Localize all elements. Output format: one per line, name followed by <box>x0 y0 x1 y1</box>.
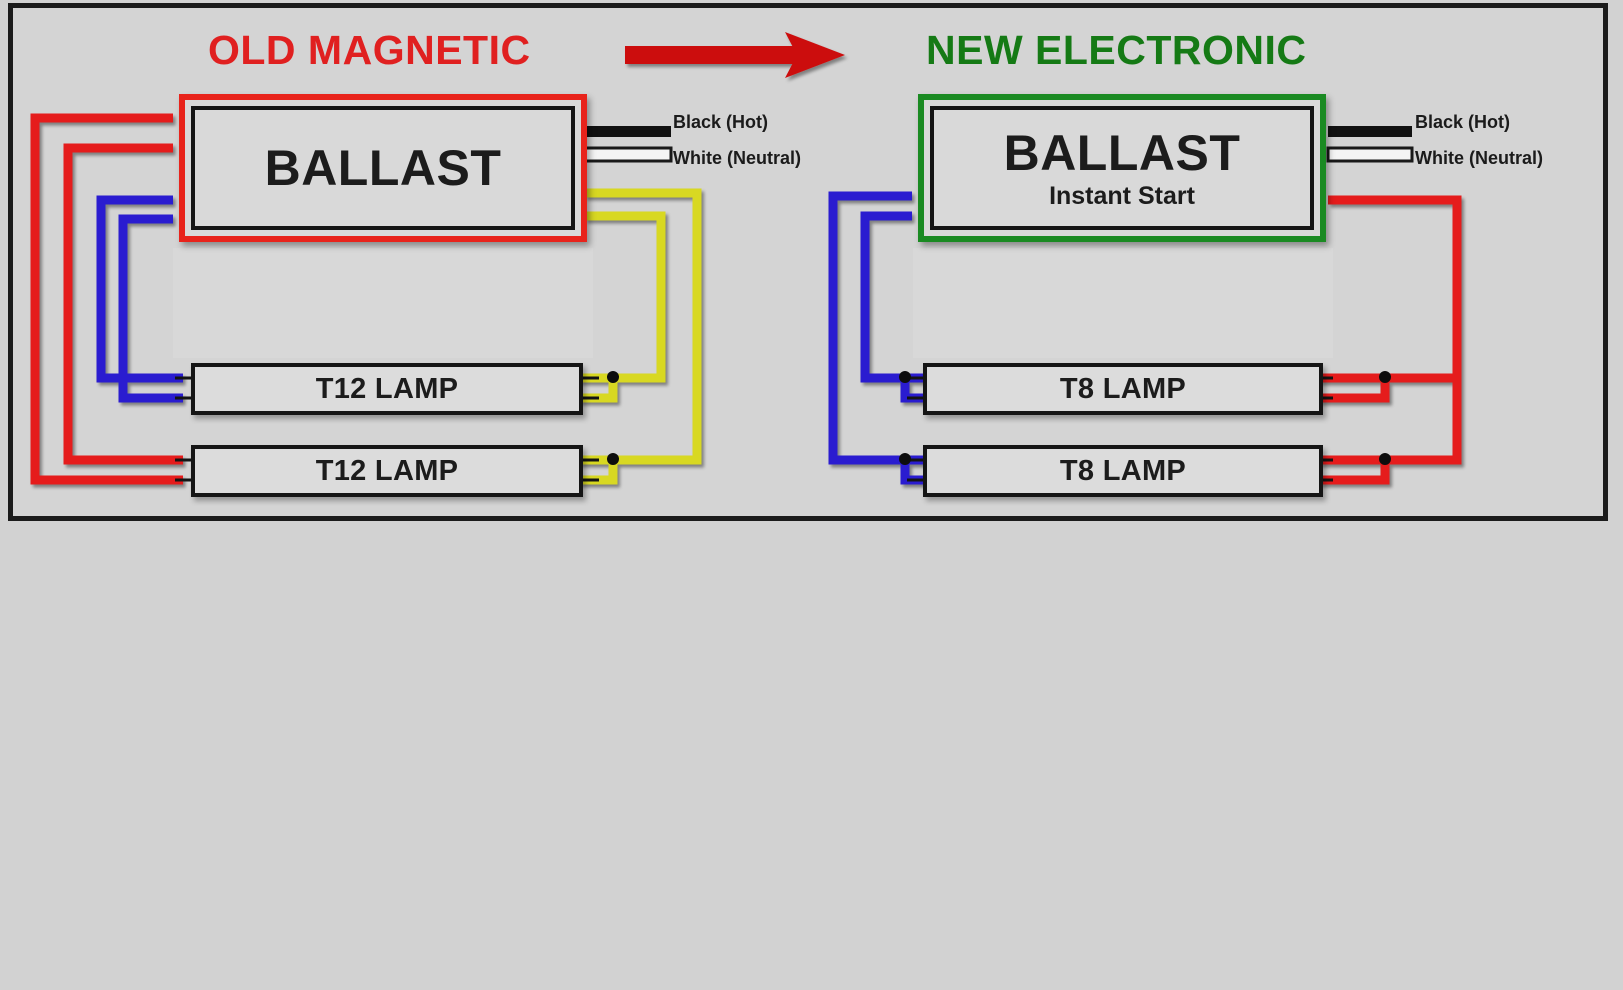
power-lead-white-new <box>1328 148 1412 161</box>
lamp-box-t8-upper: T8 LAMP <box>923 363 1323 415</box>
screenshot-root: OLD MAGNETIC NEW ELECTRONIC BALLAST BALL… <box>0 0 1623 990</box>
ballast-inner-old: BALLAST <box>191 106 575 230</box>
wire-new-blue-inner <box>865 216 912 378</box>
wire-new-red-jumper-lamp2 <box>1319 460 1385 480</box>
lead-label-black-hot-new: Black (Hot) <box>1415 112 1510 133</box>
lamp-box-t12-upper: T12 LAMP <box>191 363 583 415</box>
lamp-box-t8-lower: T8 LAMP <box>923 445 1323 497</box>
wire-old-blue-outer <box>101 200 183 378</box>
wire-old-red-outer <box>35 118 183 480</box>
ballast-wiring-diagram-panel: OLD MAGNETIC NEW ELECTRONIC BALLAST BALL… <box>8 3 1608 521</box>
wire-old-yellow-jumper-lamp1 <box>579 378 613 398</box>
junction-dot-new-lamp2-blue <box>899 453 911 465</box>
junction-dot-new-lamp2-red <box>1379 453 1391 465</box>
lead-label-black-hot-old: Black (Hot) <box>673 112 768 133</box>
ballast-box-new-electronic: BALLAST Instant Start <box>918 94 1326 242</box>
lamp-box-t12-lower: T12 LAMP <box>191 445 583 497</box>
wire-new-red-trunk <box>1328 200 1457 460</box>
panel-title-new-electronic: NEW ELECTRONIC <box>926 30 1307 71</box>
lamp-label-t8-lower: T8 LAMP <box>1060 455 1186 488</box>
background-wash-left <box>173 248 593 358</box>
lamp-label-t8-upper: T8 LAMP <box>1060 373 1186 406</box>
junction-dot-new-lamp1-red <box>1379 371 1391 383</box>
ballast-inner-new: BALLAST Instant Start <box>930 106 1314 230</box>
ballast-label-old: BALLAST <box>265 143 502 193</box>
junction-dot-new-lamp1-blue <box>899 371 911 383</box>
wire-old-yellow-outer <box>585 193 697 460</box>
background-wash-right <box>913 248 1333 358</box>
power-lead-white-old <box>585 148 671 161</box>
wire-new-blue-outer <box>833 196 912 460</box>
lamp-label-t12-lower: T12 LAMP <box>316 455 459 488</box>
lead-label-white-neutral-new: White (Neutral) <box>1415 148 1543 169</box>
junction-dot-old-lamp2 <box>607 453 619 465</box>
wire-old-yellow-jumper-lamp2 <box>579 460 613 480</box>
power-lead-black-old <box>585 126 671 137</box>
power-lead-black-new <box>1328 126 1412 137</box>
lamp-label-t12-upper: T12 LAMP <box>316 373 459 406</box>
wire-old-red-inner <box>68 148 183 460</box>
ballast-sublabel-instant-start: Instant Start <box>1049 184 1195 209</box>
wire-old-yellow-inner <box>585 216 661 378</box>
junction-dot-old-lamp1 <box>607 371 619 383</box>
wire-old-blue-inner <box>123 219 183 398</box>
panel-title-old-magnetic: OLD MAGNETIC <box>208 30 531 71</box>
ballast-box-old-magnetic: BALLAST <box>179 94 587 242</box>
red-right-arrow <box>625 32 845 78</box>
wire-new-red-jumper-lamp1 <box>1319 378 1385 398</box>
ballast-label-new: BALLAST <box>1004 128 1241 178</box>
lead-label-white-neutral-old: White (Neutral) <box>673 148 801 169</box>
